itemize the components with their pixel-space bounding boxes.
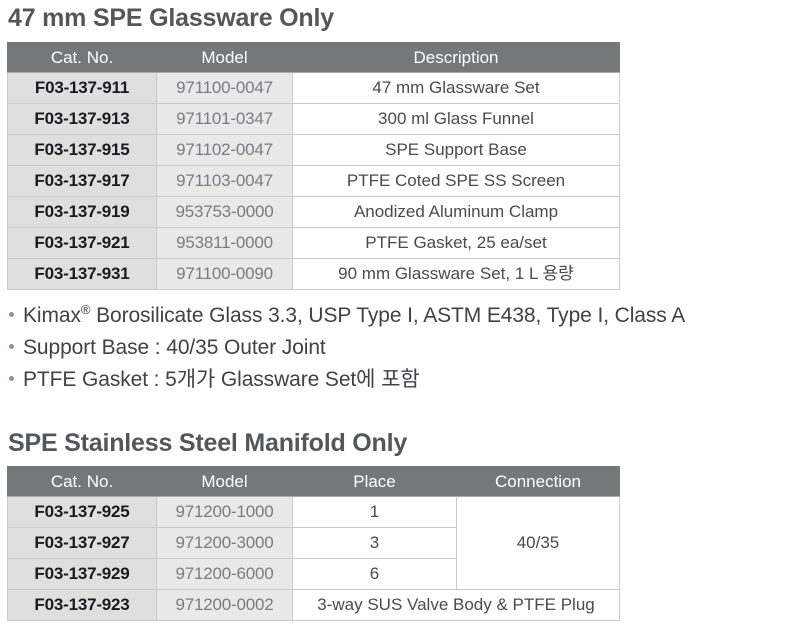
cell-connection: 40/35 <box>457 497 620 590</box>
cell-model: 953811-0000 <box>157 228 293 259</box>
manifold-table: Cat. No. Model Place Connection F03-137-… <box>7 466 620 621</box>
cell-description: 47 mm Glassware Set <box>293 73 620 104</box>
cell-cat-no: F03-137-925 <box>8 497 157 528</box>
column-header-place: Place <box>293 467 457 497</box>
cell-model: 971102-0047 <box>157 135 293 166</box>
cell-description: PTFE Gasket, 25 ea/set <box>293 228 620 259</box>
note-text-prefix: Support Base : 40/35 Outer Joint <box>23 336 326 359</box>
cell-model: 971200-3000 <box>157 528 293 559</box>
table-row: F03-137-925 971200-1000 1 40/35 <box>8 497 620 528</box>
bullet-dot-icon <box>9 376 14 381</box>
table-row: F03-137-911 971100-0047 47 mm Glassware … <box>8 73 620 104</box>
cell-cat-no: F03-137-919 <box>8 197 157 228</box>
note-text-prefix: PTFE Gasket : 5개가 Glassware Set에 포함 <box>23 368 420 391</box>
table-row: F03-137-913 971101-0347 300 ml Glass Fun… <box>8 104 620 135</box>
cell-description: 90 mm Glassware Set, 1 L 용량 <box>293 259 620 290</box>
cell-place: 6 <box>293 559 457 590</box>
cell-model: 971100-0047 <box>157 73 293 104</box>
table-header-row: Cat. No. Model Place Connection <box>8 467 620 497</box>
table-row: F03-137-921 953811-0000 PTFE Gasket, 25 … <box>8 228 620 259</box>
table-row: F03-137-915 971102-0047 SPE Support Base <box>8 135 620 166</box>
cell-model: 971200-6000 <box>157 559 293 590</box>
notes-list: Kimax® Borosilicate Glass 3.3, USP Type … <box>9 300 685 396</box>
cell-cat-no: F03-137-929 <box>8 559 157 590</box>
cell-cat-no: F03-137-911 <box>8 73 157 104</box>
cell-description: SPE Support Base <box>293 135 620 166</box>
cell-model: 971100-0090 <box>157 259 293 290</box>
table-row: F03-137-917 971103-0047 PTFE Coted SPE S… <box>8 166 620 197</box>
glassware-table: Cat. No. Model Description F03-137-911 9… <box>7 42 620 290</box>
note-text-rest: Borosilicate Glass 3.3, USP Type I, ASTM… <box>90 304 685 327</box>
cell-model: 971103-0047 <box>157 166 293 197</box>
page-title-manifold: SPE Stainless Steel Manifold Only <box>8 431 407 456</box>
cell-cat-no: F03-137-931 <box>8 259 157 290</box>
column-header-description: Description <box>293 43 620 73</box>
registered-trademark-icon: ® <box>81 302 90 317</box>
cell-cat-no: F03-137-917 <box>8 166 157 197</box>
cell-cat-no: F03-137-921 <box>8 228 157 259</box>
note-text-prefix: Kimax <box>23 304 81 327</box>
column-header-model: Model <box>157 43 293 73</box>
cell-model: 971200-0002 <box>157 590 293 621</box>
cell-model: 953753-0000 <box>157 197 293 228</box>
table-header-row: Cat. No. Model Description <box>8 43 620 73</box>
column-header-cat-no: Cat. No. <box>8 43 157 73</box>
cell-cat-no: F03-137-915 <box>8 135 157 166</box>
cell-cat-no: F03-137-923 <box>8 590 157 621</box>
bullet-dot-icon <box>9 344 14 349</box>
cell-description: 3-way SUS Valve Body & PTFE Plug <box>293 590 620 621</box>
cell-description: PTFE Coted SPE SS Screen <box>293 166 620 197</box>
cell-description: Anodized Aluminum Clamp <box>293 197 620 228</box>
table-row: F03-137-919 953753-0000 Anodized Aluminu… <box>8 197 620 228</box>
bullet-dot-icon <box>9 312 14 317</box>
cell-description: 300 ml Glass Funnel <box>293 104 620 135</box>
table-row: F03-137-923 971200-0002 3-way SUS Valve … <box>8 590 620 621</box>
cell-cat-no: F03-137-913 <box>8 104 157 135</box>
cell-place: 1 <box>293 497 457 528</box>
column-header-connection: Connection <box>457 467 620 497</box>
list-item: Kimax® Borosilicate Glass 3.3, USP Type … <box>9 300 685 332</box>
cell-model: 971200-1000 <box>157 497 293 528</box>
cell-place: 3 <box>293 528 457 559</box>
catalog-page: 47 mm SPE Glassware Only Cat. No. Model … <box>0 0 800 634</box>
cell-cat-no: F03-137-927 <box>8 528 157 559</box>
column-header-cat-no: Cat. No. <box>8 467 157 497</box>
list-item: PTFE Gasket : 5개가 Glassware Set에 포함 <box>9 364 685 396</box>
column-header-model: Model <box>157 467 293 497</box>
list-item: Support Base : 40/35 Outer Joint <box>9 332 685 364</box>
page-title-glassware: 47 mm SPE Glassware Only <box>8 6 334 31</box>
table-row: F03-137-931 971100-0090 90 mm Glassware … <box>8 259 620 290</box>
cell-model: 971101-0347 <box>157 104 293 135</box>
